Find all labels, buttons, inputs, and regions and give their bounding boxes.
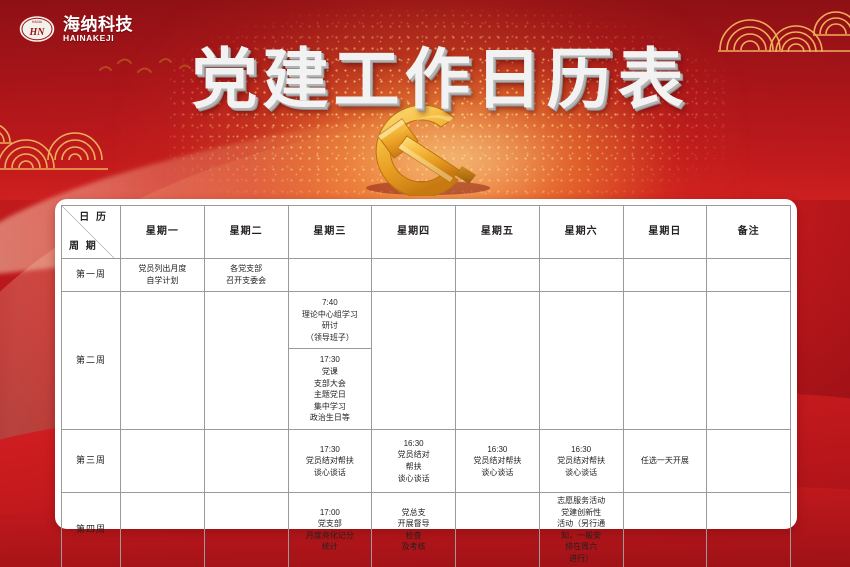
cell-text-line: 党员列出月度 [122,263,203,275]
cell-text-line: 支部大会 [291,378,370,390]
cell-text-line: 17:30 [290,444,371,456]
cell-w4-remarks [707,492,791,567]
column-header-wednesday: 星期三 [288,206,372,259]
cell-w2-tuesday [204,292,288,430]
table-body: 第一周 党员列出月度自学计划 各党支部召开支委会 第二周 [62,259,791,567]
cell-text-line: 帮扶 [373,461,454,473]
cell-text-line: 17:30 [291,354,370,366]
cell-text-line: 党建创新性 [541,507,622,519]
cell-text-line: 统计 [290,541,371,553]
cell-w4-thursday: 党总支开展督导检查及考核 [372,492,456,567]
cell-text-line: 党员结对 [373,449,454,461]
party-work-calendar-table: 日 历 周 期 星期一 星期二 星期三 星期四 星期五 星期六 星期日 备注 第… [61,205,791,567]
cell-text-line: 志愿服务活动 [541,495,622,507]
cell-text-line: 集中学习 [291,401,370,413]
cell-w3-friday: 16:30党员结对帮扶谈心谈话 [456,429,540,492]
cell-w1-friday [456,259,540,292]
svg-text:HAINA: HAINA [32,20,43,24]
cell-text-line: 政治生日等 [291,412,370,424]
cell-w2-thursday [372,292,456,430]
cell-text-line: 及考核 [373,541,454,553]
hainakeji-oval-logo-icon: HAINA HN [18,14,56,44]
cell-w2-saturday [539,292,623,430]
cell-text-line: 谈心谈话 [541,467,622,479]
table-row: 第二周 7:40理论中心组学习研讨（领导班子） 17:30党课支部大会主题党日集… [62,292,791,430]
calendar-panel: 日 历 周 期 星期一 星期二 星期三 星期四 星期五 星期六 星期日 备注 第… [55,199,797,529]
cell-w4-sunday [623,492,707,567]
cell-text-line: 7:40 [291,297,370,309]
cell-text-line: 党员结对帮扶 [290,455,371,467]
cell-w4-tuesday [204,492,288,567]
cell-text-line: 自学计划 [122,275,203,287]
cell-w4-saturday: 志愿服务活动党建创新性活动（另行通知，一般安排在周六进行） [539,492,623,567]
cell-w4-monday [121,492,205,567]
cell-text-line: 谈心谈话 [290,467,371,479]
row-label-week-3: 第三周 [62,429,121,492]
cell-text-line: 16:30 [541,444,622,456]
column-header-remarks: 备注 [707,206,791,259]
cell-text-line: 召开支委会 [206,275,287,287]
cell-text-line: 活动（另行通 [541,518,622,530]
brand-name-en: HAINAKEJI [63,34,133,43]
cell-text-line: 党总支 [373,507,454,519]
cell-w1-remarks [707,259,791,292]
cell-w2-sunday [623,292,707,430]
cell-w1-monday: 党员列出月度自学计划 [121,259,205,292]
column-header-sunday: 星期日 [623,206,707,259]
party-work-calendar-poster: HAINA HN 海纳科技 HAINAKEJI 党建工作日历表 [0,0,850,567]
cell-text-line: 理论中心组学习 [291,309,370,321]
column-header-friday: 星期五 [456,206,540,259]
cell-w4-friday [456,492,540,567]
column-header-tuesday: 星期二 [204,206,288,259]
corner-label-period: 周 期 [69,240,98,255]
table-row: 第三周 17:30党员结对帮扶谈心谈话 16:30党员结对帮扶谈心谈话 16:3… [62,429,791,492]
cell-w1-saturday [539,259,623,292]
cell-w3-wednesday: 17:30党员结对帮扶谈心谈话 [288,429,372,492]
corner-header-cell: 日 历 周 期 [62,206,121,259]
brand-name-cn: 海纳科技 [63,16,133,33]
cell-text-line: 党课 [291,366,370,378]
cell-text-line: 谈心谈话 [373,473,454,485]
svg-text:HN: HN [29,27,46,38]
cell-w2-monday [121,292,205,430]
cell-text-line: 进行） [541,553,622,565]
cell-text-line: 16:30 [457,444,538,456]
cell-w3-sunday: 任选一天开展 [623,429,707,492]
cell-w3-saturday: 16:30党员结对帮扶谈心谈话 [539,429,623,492]
cell-w2-wednesday-morning: 7:40理论中心组学习研讨（领导班子） [289,292,372,349]
cell-text-line: 17:00 [290,507,371,519]
table-header-row: 日 历 周 期 星期一 星期二 星期三 星期四 星期五 星期六 星期日 备注 [62,206,791,259]
cell-w3-tuesday [204,429,288,492]
cell-text-line: 谈心谈话 [457,467,538,479]
cell-text-line: 各党支部 [206,263,287,275]
cell-w2-wednesday: 7:40理论中心组学习研讨（领导班子） 17:30党课支部大会主题党日集中学习政… [288,292,372,430]
column-header-monday: 星期一 [121,206,205,259]
cell-w2-remarks [707,292,791,430]
cell-text-line: 党支部 [290,518,371,530]
cell-w3-monday [121,429,205,492]
cell-w2-friday [456,292,540,430]
corner-label-calendar: 日 历 [79,211,108,226]
cell-w1-wednesday [288,259,372,292]
cell-text-line: 党员结对帮扶 [541,455,622,467]
cell-text-line: 研讨 [291,320,370,332]
cell-text-line: 任选一天开展 [625,455,706,467]
column-header-saturday: 星期六 [539,206,623,259]
column-header-thursday: 星期四 [372,206,456,259]
cell-text-line: 16:30 [373,438,454,450]
cell-w1-sunday [623,259,707,292]
cell-text-line: 党员结对帮扶 [457,455,538,467]
cell-w1-thursday [372,259,456,292]
cell-w2-wednesday-evening: 17:30党课支部大会主题党日集中学习政治生日等 [289,349,372,429]
cell-text-line: 主题党日 [291,389,370,401]
row-label-week-1: 第一周 [62,259,121,292]
cell-w3-remarks [707,429,791,492]
cell-text-line: 开展督导 [373,518,454,530]
cell-w4-wednesday: 17:00党支部月度亮化记分统计 [288,492,372,567]
cell-text-line: 排在周六 [541,541,622,553]
table-header: 日 历 周 期 星期一 星期二 星期三 星期四 星期五 星期六 星期日 备注 [62,206,791,259]
cell-text-line: 月度亮化记分 [290,530,371,542]
cell-text-line: （领导班子） [291,332,370,344]
cell-w3-thursday: 16:30党员结对帮扶谈心谈话 [372,429,456,492]
row-label-week-2: 第二周 [62,292,121,430]
row-label-week-4: 第四周 [62,492,121,567]
brand-logo: HAINA HN 海纳科技 HAINAKEJI [18,14,133,44]
cell-w1-tuesday: 各党支部召开支委会 [204,259,288,292]
cell-text-line: 检查 [373,530,454,542]
table-row: 第四周 17:00党支部月度亮化记分统计 党总支开展督导检查及考核 志愿服务活动… [62,492,791,567]
table-row: 第一周 党员列出月度自学计划 各党支部召开支委会 [62,259,791,292]
cell-text-line: 知，一般安 [541,530,622,542]
